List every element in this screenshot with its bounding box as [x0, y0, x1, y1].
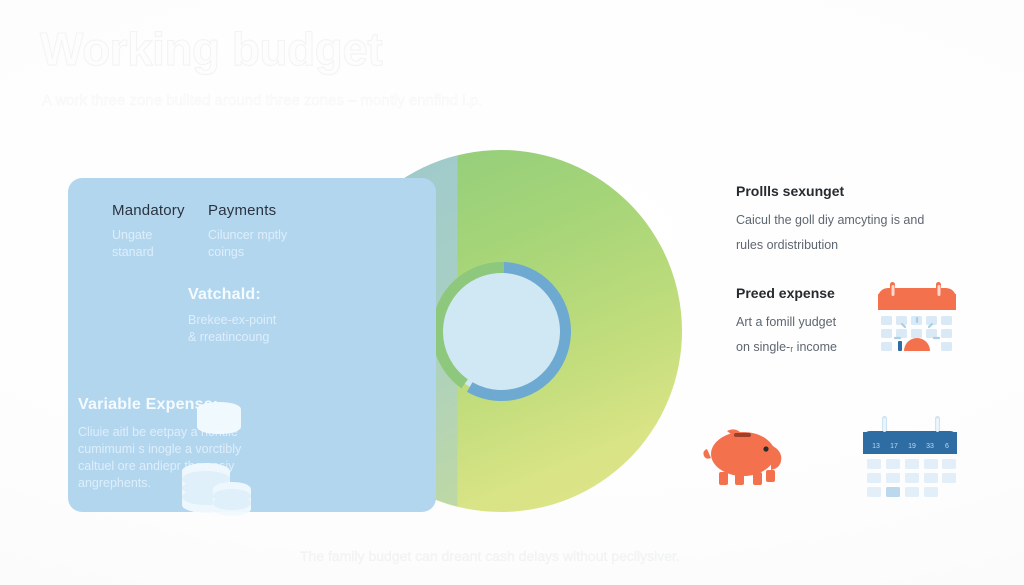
- slide-canvas: Working budget A work three zone bulited…: [0, 0, 1024, 585]
- card-column-payments: Payments Ciluncer mptly coings: [208, 202, 338, 261]
- calendar-sunrise-icon: [872, 278, 962, 362]
- preed-expense-heading: Preed expense: [736, 285, 886, 301]
- preed-expense-line-1: Art a fomill yudget: [736, 310, 886, 335]
- mandatory-heading: Mandatory: [112, 202, 212, 219]
- donut-ring: [424, 254, 579, 409]
- footer-note: The family budget can dreant cash delays…: [300, 548, 680, 564]
- preed-expense-line-2: on single-ᵣ income: [736, 335, 886, 360]
- card-row-vatchald: Vatchald: Brekee-ex-point & rreatincoung: [188, 286, 378, 346]
- svg-text:13: 13: [872, 443, 880, 450]
- svg-text:19: 19: [908, 443, 916, 450]
- card-column-mandatory: Mandatory Ungate stanard: [112, 202, 212, 261]
- vatchald-body: Brekee-ex-point & rreatincoung: [188, 312, 378, 346]
- right-block-prollls: Prollls sexunget Caicul the goll diy amc…: [736, 183, 951, 258]
- piggy-bank-icon: [703, 421, 787, 491]
- coins-stack-large-icon: [176, 461, 254, 527]
- prollls-line-1: Caicul the goll diy amcyting is and: [736, 208, 951, 233]
- right-block-preed-expense: Preed expense Art a fomill yudget on sin…: [736, 285, 886, 360]
- calendar-schedule-icon: 13 17 19 33 6: [857, 414, 963, 500]
- svg-text:33: 33: [926, 443, 934, 450]
- svg-text:6: 6: [945, 443, 949, 450]
- payments-body: Ciluncer mptly coings: [208, 227, 338, 261]
- payments-heading: Payments: [208, 202, 338, 219]
- mandatory-body: Ungate stanard: [112, 227, 212, 261]
- svg-text:17: 17: [890, 443, 898, 450]
- page-subtitle: A work three zone bulited around three z…: [42, 92, 482, 109]
- budget-zones-card: Mandatory Ungate stanard Payments Cilunc…: [68, 178, 436, 512]
- prollls-line-2: rules ordistribution: [736, 233, 951, 258]
- prollls-heading: Prollls sexunget: [736, 183, 951, 199]
- coins-stack-small-icon: [192, 400, 246, 444]
- page-title: Working budget: [40, 22, 382, 76]
- vatchald-heading: Vatchald:: [188, 286, 378, 304]
